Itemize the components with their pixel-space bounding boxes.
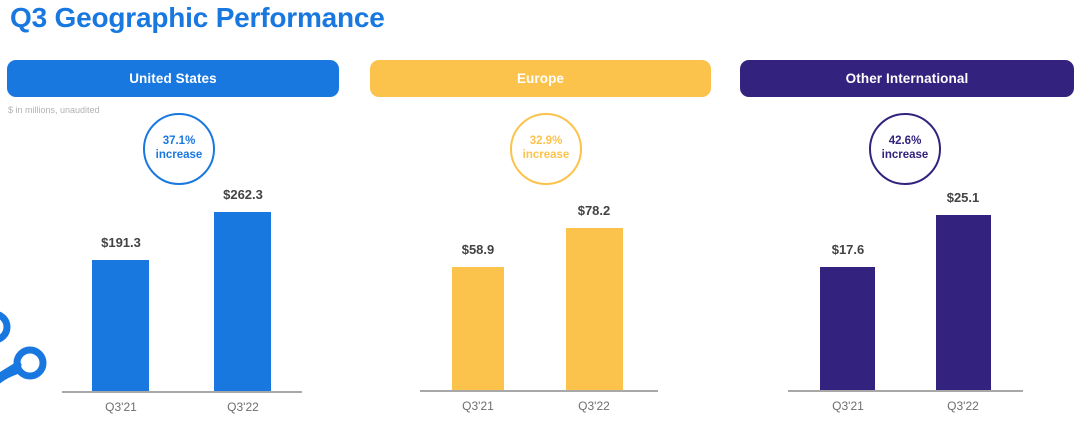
bar-us-q321[interactable]	[92, 260, 149, 391]
x-axis-line	[62, 391, 302, 393]
bar-europe-q322[interactable]	[566, 228, 623, 390]
bar-chart-europe: $58.9 $78.2 Q3'21 Q3'22	[370, 60, 711, 427]
bar-value-other-q322: $25.1	[927, 190, 999, 205]
panel-other-international: Other International 42.6% increase $17.6…	[740, 60, 1074, 427]
bar-value-europe-q322: $78.2	[558, 203, 630, 218]
page-title: Q3 Geographic Performance	[10, 2, 385, 34]
bar-other-q321[interactable]	[820, 267, 875, 390]
bar-value-us-q322: $262.3	[206, 187, 280, 202]
bar-chart-other-international: $17.6 $25.1 Q3'21 Q3'22	[740, 60, 1074, 427]
tick-label-other-q322: Q3'22	[927, 399, 999, 413]
x-axis-line	[788, 390, 1023, 392]
bar-chart-united-states: $191.3 $262.3 Q3'21 Q3'22	[7, 60, 339, 427]
tick-label-us-q322: Q3'22	[206, 400, 280, 414]
bar-value-europe-q321: $58.9	[442, 242, 514, 257]
bar-value-us-q321: $191.3	[85, 235, 157, 250]
panel-europe: Europe 32.9% increase $58.9 $78.2 Q3'21 …	[370, 60, 711, 427]
tick-label-europe-q322: Q3'22	[558, 399, 630, 413]
bar-other-q322[interactable]	[936, 215, 991, 390]
tick-label-europe-q321: Q3'21	[442, 399, 514, 413]
bar-europe-q321[interactable]	[452, 267, 504, 390]
bar-value-other-q321: $17.6	[812, 242, 884, 257]
tick-label-us-q321: Q3'21	[85, 400, 157, 414]
tick-label-other-q321: Q3'21	[812, 399, 884, 413]
panel-united-states: United States 37.1% increase $191.3 $262…	[7, 60, 339, 427]
x-axis-line	[420, 390, 658, 392]
bar-us-q322[interactable]	[214, 212, 271, 391]
